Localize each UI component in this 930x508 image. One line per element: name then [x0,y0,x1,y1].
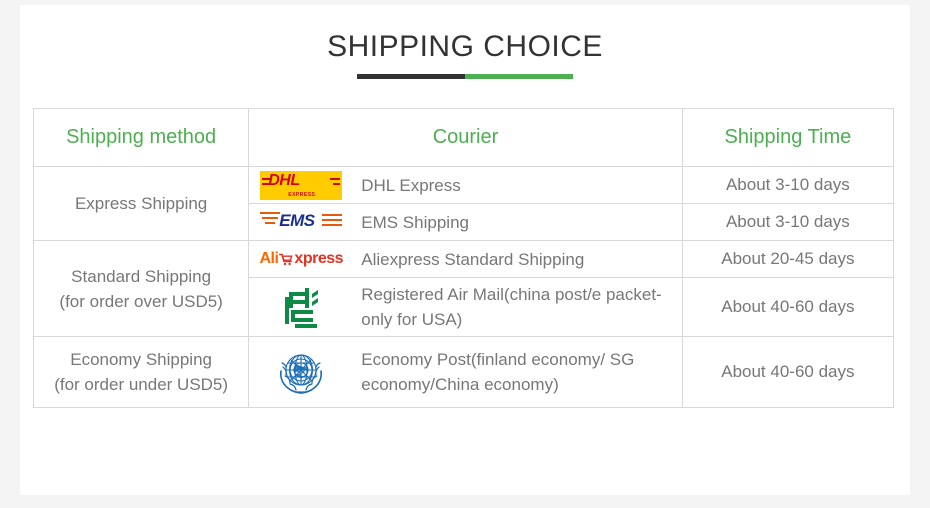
logo-container: DHL EXPRESS [249,171,353,200]
aliexpress-logo-subtext: xpress [294,250,343,268]
courier-cell-china-post: Registered Air Mail(china post/e packet-… [249,278,683,337]
table-header: Shipping method Courier Shipping Time [34,109,894,167]
title-underline-green [465,74,573,79]
table-row: Standard Shipping (for order over USD5) … [34,241,894,278]
header-shipping-method: Shipping method [34,109,249,167]
shipping-table: Shipping method Courier Shipping Time Ex… [33,108,894,408]
method-cell-economy: Economy Shipping (for order under USD5) [34,337,249,408]
courier-name: DHL Express [353,173,461,198]
logo-container [249,284,353,330]
courier-name: Registered Air Mail(china post/e packet-… [353,282,682,332]
time-cell: About 3-10 days [682,167,893,204]
aliexpress-logo: Ali xpress [259,250,343,268]
method-cell-standard: Standard Shipping (for order over USD5) [34,241,249,337]
courier-name: Aliexpress Standard Shipping [353,247,584,272]
title-underline-dark [357,74,465,79]
table-row: Economy Shipping (for order under USD5) [34,337,894,408]
ems-logo-text: EMS [279,211,314,231]
un-emblem-logo [275,346,327,398]
time-cell: About 40-60 days [682,337,893,408]
aliexpress-logo-text: Ali [259,250,278,268]
dhl-logo-subtext: EXPRESS [288,192,315,198]
dhl-logo-text: DHL [268,172,299,190]
page-title: SHIPPING CHOICE [20,30,910,64]
courier-cell-aliexpress: Ali xpress [249,241,683,278]
table-header-row: Shipping method Courier Shipping Time [34,109,894,167]
table-row: Express Shipping DHL EXPRESS [34,167,894,204]
method-note: (for order under USD5) [34,372,248,397]
method-note: (for order over USD5) [34,289,248,314]
time-cell: About 3-10 days [682,204,893,241]
logo-container [249,346,353,398]
courier-name: EMS Shipping [353,210,469,235]
courier-cell-ems: EMS EMS Shipping [249,204,683,241]
ems-logo: EMS [260,207,342,237]
header-shipping-time: Shipping Time [682,109,893,167]
china-post-logo [279,284,323,330]
courier-cell-economy-post: Economy Post(finland economy/ SG economy… [249,337,683,408]
method-label: Express Shipping [34,191,248,216]
method-label: Standard Shipping [34,264,248,289]
time-cell: About 40-60 days [682,278,893,337]
method-cell-express: Express Shipping [34,167,249,241]
table-body: Express Shipping DHL EXPRESS [34,167,894,408]
courier-cell-dhl: DHL EXPRESS DHL Express [249,167,683,204]
logo-container: Ali xpress [249,250,353,268]
shipping-choice-card: SHIPPING CHOICE Shipping method Courier … [20,5,910,495]
header-courier: Courier [249,109,683,167]
courier-name: Economy Post(finland economy/ SG economy… [353,347,682,397]
title-underline [357,74,573,79]
logo-container: EMS [249,207,353,237]
time-cell: About 20-45 days [682,241,893,278]
dhl-logo: DHL EXPRESS [260,171,342,200]
method-label: Economy Shipping [34,347,248,372]
shopping-cart-icon [279,253,293,266]
